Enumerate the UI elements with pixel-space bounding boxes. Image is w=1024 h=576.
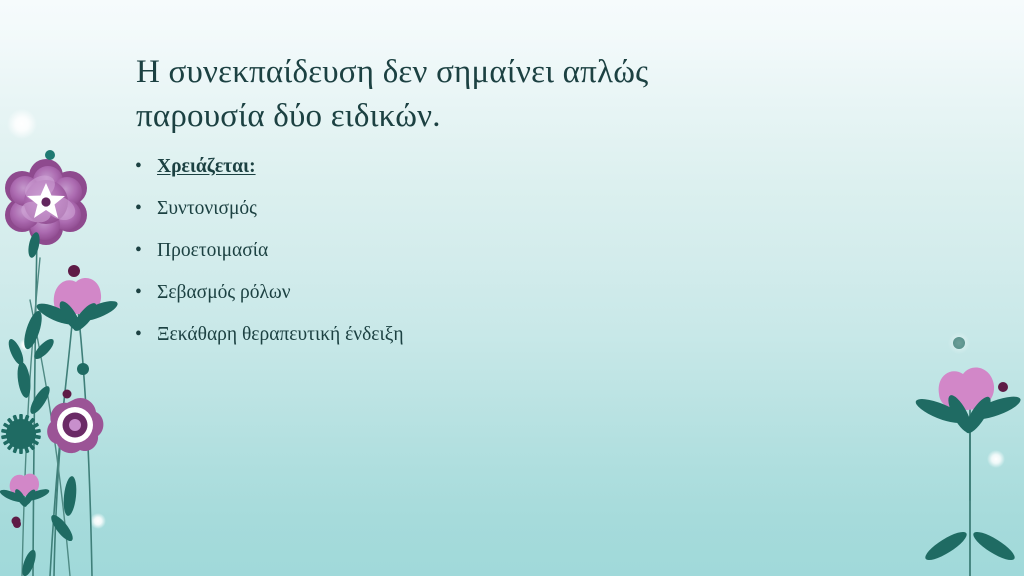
bullet-marker-icon: •: [135, 283, 142, 303]
bullet-marker-icon: •: [135, 157, 142, 177]
bullet-label: Συντονισμός: [157, 198, 257, 219]
bullet-marker-icon: •: [135, 241, 142, 261]
bullet-marker-icon: •: [135, 199, 142, 219]
bullet-label: Ξεκάθαρη θεραπευτική ένδειξη: [157, 324, 404, 345]
slide-title-line-2: παρουσία δύο ειδικών.: [136, 94, 836, 138]
bullet-label: Προετοιμασία: [157, 240, 268, 261]
bullet-item-0: • Χρειάζεται:: [131, 157, 771, 177]
bullet-label: Χρειάζεται:: [157, 156, 256, 177]
slide-title: Η συνεκπαίδευση δεν σημαίνει απλώς παρου…: [136, 50, 836, 138]
bullet-label: Σεβασμός ρόλων: [157, 282, 291, 303]
presentation-slide: Η συνεκπαίδευση δεν σημαίνει απλώς παρου…: [0, 0, 1024, 576]
bullet-item-3: • Σεβασμός ρόλων: [131, 283, 771, 303]
bullet-item-1: • Συντονισμός: [131, 199, 771, 219]
slide-bullet-list: • Χρειάζεται: • Συντονισμός • Προετοιμασ…: [131, 157, 771, 367]
slide-title-line-1: Η συνεκπαίδευση δεν σημαίνει απλώς: [136, 50, 836, 94]
bullet-item-4: • Ξεκάθαρη θεραπευτική ένδειξη: [131, 325, 771, 345]
bullet-marker-icon: •: [135, 325, 142, 345]
bullet-item-2: • Προετοιμασία: [131, 241, 771, 261]
